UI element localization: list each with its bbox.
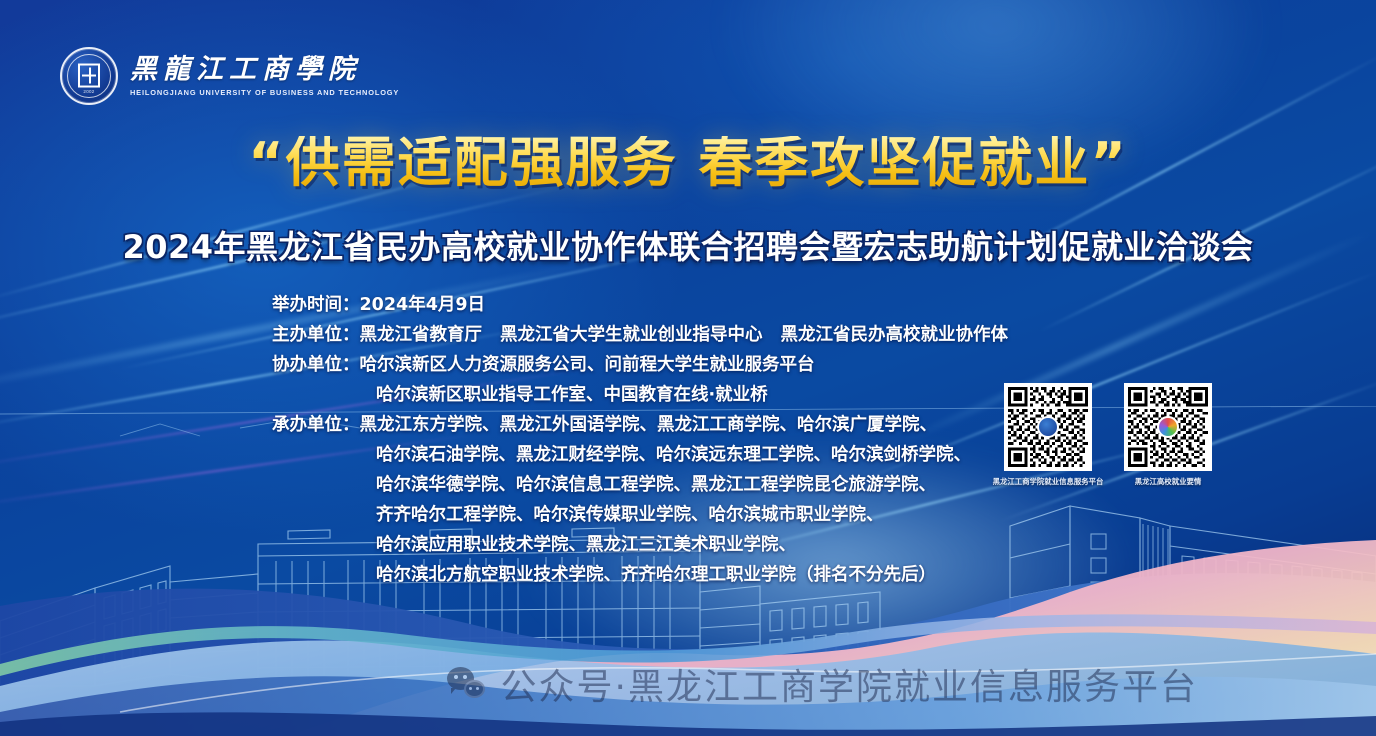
- info-row-organizer-2: 哈尔滨石油学院、黑龙江财经学院、哈尔滨远东理工学院、哈尔滨剑桥学院、: [272, 440, 1008, 470]
- organizer-line-2: 哈尔滨石油学院、黑龙江财经学院、哈尔滨远东理工学院、哈尔滨剑桥学院、: [376, 445, 971, 465]
- organizer-line-1: 黑龙江东方学院、黑龙江外国语学院、黑龙江工商学院、哈尔滨广厦学院、: [360, 415, 938, 435]
- organizer-line-5: 哈尔滨应用职业技术学院、黑龙江三江美术职业学院、: [376, 535, 796, 555]
- info-row-organizer-3: 哈尔滨华德学院、哈尔滨信息工程学院、黑龙江工程学院昆仑旅游学院、: [272, 470, 1008, 500]
- host-value-1: 黑龙江省教育厅: [360, 325, 483, 345]
- info-row-organizer: 承办单位：黑龙江东方学院、黑龙江外国语学院、黑龙江工商学院、哈尔滨广厦学院、: [272, 410, 1008, 440]
- host-label: 主办单位：: [272, 325, 360, 345]
- wechat-icon: [447, 667, 487, 701]
- time-label: 举办时间：: [272, 295, 360, 315]
- poster-subheadline: 2024年黑龙江省民办高校就业协作体联合招聘会暨宏志助航计划促就业洽谈会: [0, 222, 1376, 268]
- university-name-en: HEILONGJIANG UNIVERSITY OF BUSINESS AND …: [130, 88, 399, 97]
- coorganizer-label: 协办单位：: [272, 355, 360, 375]
- event-info-block: 举办时间：2024年4月9日 主办单位：黑龙江省教育厅黑龙江省大学生就业创业指导…: [272, 290, 1008, 590]
- info-row-time: 举办时间：2024年4月9日: [272, 290, 1008, 320]
- info-row-coorganizer-2: 哈尔滨新区职业指导工作室、中国教育在线·就业桥: [272, 380, 1008, 410]
- host-value-3: 黑龙江省民办高校就业协作体: [781, 325, 1009, 345]
- qr-item[interactable]: 黑龙江高校就业要情: [1124, 383, 1212, 487]
- qr-center-logo-icon: [1157, 416, 1179, 438]
- poster-headline: “供需适配强服务 春季攻坚促就业”: [0, 136, 1376, 190]
- qr-caption: 黑龙江高校就业要情: [1135, 476, 1202, 487]
- info-row-organizer-4: 齐齐哈尔工程学院、哈尔滨传媒职业学院、哈尔滨城市职业学院、: [272, 500, 1008, 530]
- qr-item[interactable]: 黑龙江工商学院就业信息服务平台: [1004, 383, 1092, 487]
- host-value-2: 黑龙江省大学生就业创业指导中心: [500, 325, 763, 345]
- university-seal-icon: 2002: [60, 47, 118, 105]
- poster-canvas: 2002 黑龍江工商學院 HEILONGJIANG UNIVERSITY OF …: [0, 0, 1376, 736]
- info-row-host: 主办单位：黑龙江省教育厅黑龙江省大学生就业创业指导中心黑龙江省民办高校就业协作体: [272, 320, 1008, 350]
- organizer-line-3: 哈尔滨华德学院、哈尔滨信息工程学院、黑龙江工程学院昆仑旅游学院、: [376, 475, 936, 495]
- footer-text: 公众号·黑龙江工商学院就业信息服务平台: [501, 658, 1198, 710]
- qr-code-icon[interactable]: [1004, 383, 1092, 471]
- time-value: 2024年4月9日: [360, 295, 486, 315]
- qr-caption: 黑龙江工商学院就业信息服务平台: [993, 476, 1104, 487]
- qr-center-logo-icon: [1037, 416, 1059, 438]
- organizer-label: 承办单位：: [272, 415, 360, 435]
- organizer-line-4: 齐齐哈尔工程学院、哈尔滨传媒职业学院、哈尔滨城市职业学院、: [376, 505, 884, 525]
- coorganizer-line-2: 哈尔滨新区职业指导工作室、中国教育在线·就业桥: [376, 385, 768, 405]
- organizer-line-6: 哈尔滨北方航空职业技术学院、齐齐哈尔理工职业学院（排名不分先后）: [376, 565, 936, 585]
- info-row-coorganizer: 协办单位：哈尔滨新区人力资源服务公司、问前程大学生就业服务平台: [272, 350, 1008, 380]
- qr-code-icon[interactable]: [1124, 383, 1212, 471]
- university-logo: 2002 黑龍江工商學院 HEILONGJIANG UNIVERSITY OF …: [60, 47, 399, 105]
- university-name-cn: 黑龍江工商學院: [130, 55, 399, 83]
- seal-year: 2002: [83, 89, 94, 94]
- qr-code-group: 黑龙江工商学院就业信息服务平台: [1004, 383, 1212, 487]
- info-row-organizer-5: 哈尔滨应用职业技术学院、黑龙江三江美术职业学院、: [272, 530, 1008, 560]
- coorganizer-line-1: 哈尔滨新区人力资源服务公司、问前程大学生就业服务平台: [360, 355, 815, 375]
- info-row-organizer-6: 哈尔滨北方航空职业技术学院、齐齐哈尔理工职业学院（排名不分先后）: [272, 560, 1008, 590]
- footer-ribbon: 公众号·黑龙江工商学院就业信息服务平台: [0, 620, 1376, 736]
